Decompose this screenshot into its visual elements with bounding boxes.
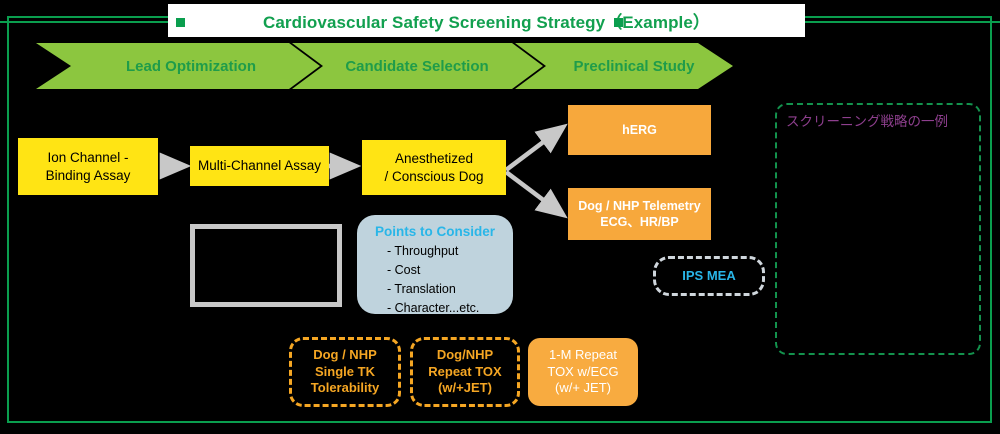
page-title: Cardiovascular Safety Screening Strategy… — [263, 8, 710, 33]
flow-box-line1: hERG — [622, 123, 657, 137]
tox-box-line1: 1-M Repeat — [549, 347, 617, 362]
list-item: - Throughput — [387, 242, 513, 261]
screening-strategy-note-text: スクリーニング戦略の一例 — [786, 110, 948, 130]
flow-box-text: Multi-Channel Assay — [198, 157, 321, 174]
tox-box-line2: Single TK — [315, 364, 375, 379]
flow-box-line1: Multi-Channel Assay — [198, 158, 321, 173]
tox-box-text: Dog / NHP Single TK Tolerability — [311, 347, 379, 397]
list-item: - Translation — [387, 280, 513, 299]
flow-box-line2: Binding Assay — [46, 168, 131, 183]
list-item: - Character...etc. — [387, 299, 513, 318]
title-marker-left-icon — [176, 18, 185, 27]
title-marker-right-icon — [614, 18, 623, 27]
screening-strategy-note-panel — [775, 103, 981, 355]
tox-box-line3: (w/+JET) — [438, 380, 492, 395]
tox-box-text: 1-M Repeat TOX w/ECG (w/+ JET) — [547, 347, 618, 397]
phase-stage-label: Lead Optimization — [126, 58, 256, 75]
phase-banner: Lead Optimization Candidate Selection Pr… — [36, 43, 733, 89]
tox-box-one-month-repeat-tox[interactable]: 1-M Repeat TOX w/ECG (w/+ JET) — [528, 338, 638, 406]
flow-box-text: Dog / NHP Telemetry ECG、HR/BP — [578, 198, 701, 230]
diagram-canvas: Cardiovascular Safety Screening Strategy… — [0, 0, 1000, 434]
ips-mea-label: IPS MEA — [682, 268, 735, 285]
points-to-consider-heading: Points to Consider — [357, 224, 513, 239]
flow-box-multi-channel-assay[interactable]: Multi-Channel Assay — [190, 146, 329, 186]
flow-box-dog-nhp-telemetry[interactable]: Dog / NHP Telemetry ECG、HR/BP — [568, 188, 711, 240]
phase-stage-candidate-selection[interactable]: Candidate Selection — [306, 43, 528, 89]
empty-image-placeholder-panel — [190, 224, 342, 307]
ips-mea-box[interactable]: IPS MEA — [653, 256, 765, 296]
flow-box-text: Ion Channel - Binding Assay — [46, 149, 131, 184]
flow-box-line2: / Conscious Dog — [384, 169, 483, 184]
flow-box-text: Anesthetized / Conscious Dog — [384, 150, 483, 185]
tox-box-text: Dog/NHP Repeat TOX (w/+JET) — [428, 347, 501, 397]
flow-box-line1: Dog / NHP Telemetry — [578, 199, 701, 213]
flow-box-ion-channel[interactable]: Ion Channel - Binding Assay — [18, 138, 158, 195]
phase-stage-preclinical-study[interactable]: Preclinical Study — [528, 43, 740, 89]
tox-box-line1: Dog / NHP — [313, 347, 377, 362]
tox-box-line1: Dog/NHP — [437, 347, 493, 362]
tox-box-line3: Tolerability — [311, 380, 379, 395]
flow-box-line1: Anesthetized — [395, 151, 473, 166]
tox-box-dog-nhp-repeat-tox[interactable]: Dog/NHP Repeat TOX (w/+JET) — [410, 337, 520, 407]
phase-stage-label: Candidate Selection — [345, 58, 488, 75]
flow-box-text: hERG — [622, 122, 657, 138]
points-to-consider-bubble: Points to Consider - Throughput - Cost -… — [357, 215, 513, 314]
flow-box-line1: Ion Channel - — [47, 150, 128, 165]
tox-box-line3: (w/+ JET) — [555, 380, 611, 395]
flow-box-line2: ECG、HR/BP — [600, 215, 678, 229]
tox-box-line2: Repeat TOX — [428, 364, 501, 379]
phase-stage-lead-optimization[interactable]: Lead Optimization — [80, 43, 302, 89]
tox-box-dog-nhp-single-tk[interactable]: Dog / NHP Single TK Tolerability — [289, 337, 401, 407]
tox-box-line2: TOX w/ECG — [547, 364, 618, 379]
list-item: - Cost — [387, 261, 513, 280]
phase-stage-label: Preclinical Study — [574, 58, 695, 75]
flow-box-herg[interactable]: hERG — [568, 105, 711, 155]
title-banner: Cardiovascular Safety Screening Strategy… — [168, 4, 805, 37]
flow-box-anesthetized-conscious-dog[interactable]: Anesthetized / Conscious Dog — [362, 140, 506, 195]
points-to-consider-list: - Throughput - Cost - Translation - Char… — [357, 242, 513, 318]
